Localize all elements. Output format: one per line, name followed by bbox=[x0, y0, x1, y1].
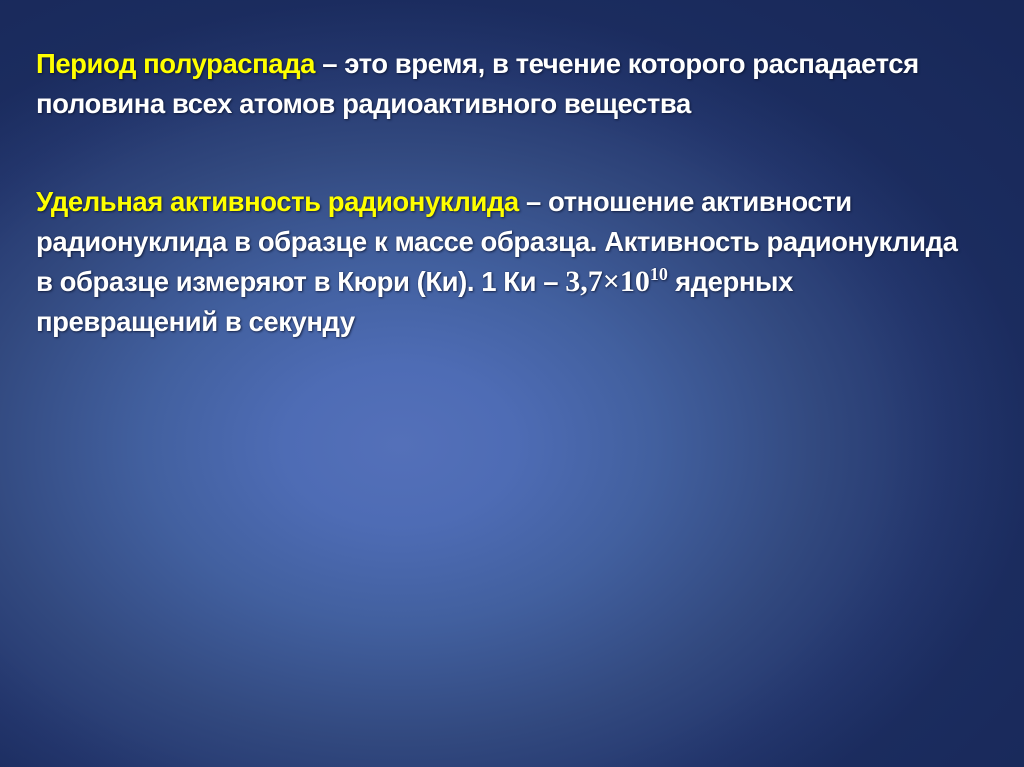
notation-exponent: 10 bbox=[650, 264, 668, 284]
notation-mantissa: 3,7×10 bbox=[565, 265, 650, 298]
slide-body-text: Период полураспада – это время, в течени… bbox=[36, 44, 976, 342]
slide-canvas: Период полураспада – это время, в течени… bbox=[0, 0, 1024, 767]
paragraph-specific-activity: Удельная активность радионуклида – отнош… bbox=[36, 182, 976, 342]
paragraph-half-life: Период полураспада – это время, в течени… bbox=[36, 44, 976, 124]
term-half-life: Период полураспада bbox=[36, 48, 315, 79]
term-specific-activity: Удельная активность радионуклида bbox=[36, 186, 519, 217]
scientific-notation-value: 3,7×1010 bbox=[565, 265, 668, 298]
